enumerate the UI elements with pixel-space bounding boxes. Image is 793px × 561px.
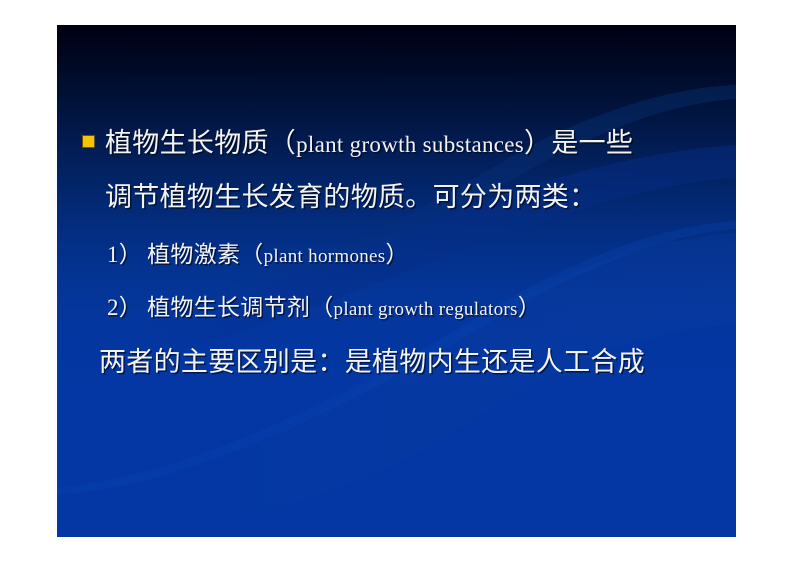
bullet-line-1-cjk-a: 植物生长物质（ xyxy=(105,128,296,158)
bullet-line-1: 植物生长物质（plant growth substances）是一些 xyxy=(105,121,633,160)
sub-item-1-close-paren: ） xyxy=(385,242,408,267)
bullet-square-icon xyxy=(82,135,95,148)
sub-item-1-cjk: 植物激素（ xyxy=(147,242,264,267)
sub-item-2: 2）植物生长调节剂（plant growth regulators） xyxy=(107,288,541,322)
sub-item-2-number: 2） xyxy=(107,295,142,320)
sub-item-1-english: plant hormones xyxy=(264,246,386,267)
bullet-line-1-cjk-b: ）是一些 xyxy=(524,128,633,158)
slide-body-text: 植物生长物质（plant growth substances）是一些 调节植物生… xyxy=(57,25,736,537)
slide-page: 植物生长物质（plant growth substances）是一些 调节植物生… xyxy=(0,0,793,561)
sub-item-2-cjk: 植物生长调节剂（ xyxy=(147,295,333,320)
bullet-line-2: 调节植物生长发育的物质。可分为两类： xyxy=(105,175,596,214)
presentation-slide: 植物生长物质（plant growth substances）是一些 调节植物生… xyxy=(57,25,736,537)
summary-line: 两者的主要区别是：是植物内生还是人工合成 xyxy=(99,340,645,379)
sub-item-1-number: 1） xyxy=(107,242,142,267)
sub-item-1: 1）植物激素（plant hormones） xyxy=(107,235,409,269)
sub-item-2-english: plant growth regulators xyxy=(334,299,518,320)
sub-item-2-close-paren: ） xyxy=(518,295,541,320)
bullet-line-1-english: plant growth substances xyxy=(296,132,524,157)
